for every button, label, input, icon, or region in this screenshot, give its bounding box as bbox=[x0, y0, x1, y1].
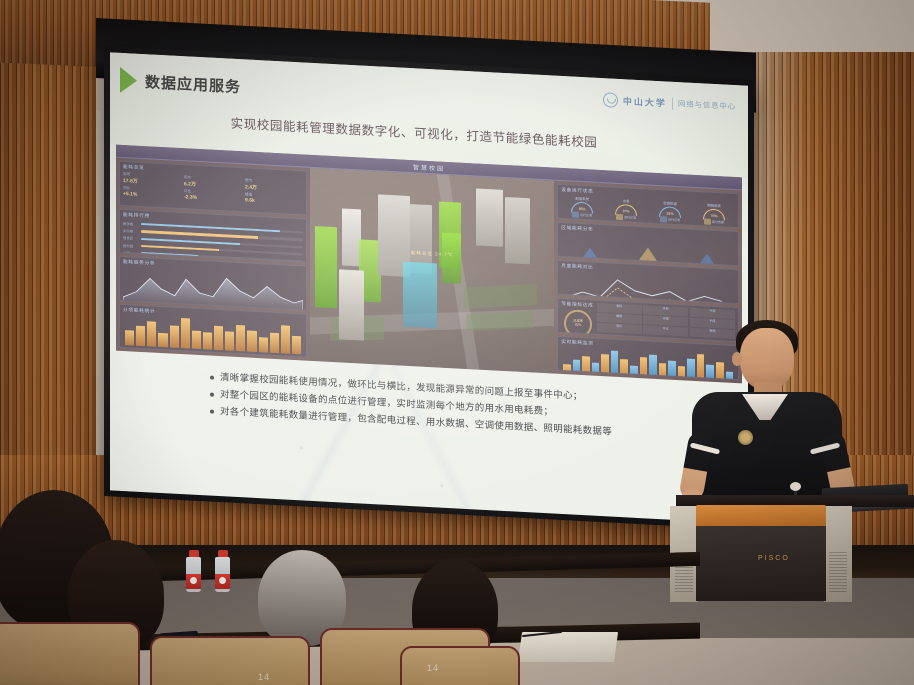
chart-bar bbox=[158, 333, 167, 347]
chart-bar bbox=[203, 333, 212, 349]
ranking-bar-label: 图书馆 bbox=[123, 243, 139, 249]
water-bottle bbox=[215, 550, 230, 592]
podium-right-pillar bbox=[824, 506, 852, 602]
microphone-icon[interactable] bbox=[790, 482, 801, 491]
gauge-status-text: 部分告警 bbox=[712, 220, 724, 225]
circular-emblem-icon bbox=[738, 430, 753, 445]
energy-dashboard-image: 智慧校园 能耗总览 用电 17.8万 bbox=[116, 145, 742, 384]
bottle-label bbox=[215, 574, 230, 589]
metric-cell: 同比 bbox=[597, 323, 642, 334]
gauge-status-text: 运行正常 bbox=[580, 213, 592, 218]
ranking-bar-label: 实验楼 bbox=[123, 228, 139, 234]
gauge-value: 87% bbox=[623, 209, 630, 213]
ranking-bar-label: 教学楼 bbox=[123, 220, 139, 226]
panel-subitem-statistics: 分项能耗统计 bbox=[119, 303, 307, 357]
chart-bar bbox=[236, 325, 245, 351]
seat-number: 14 bbox=[258, 672, 270, 682]
device-gauge: 水泵87%运行正常 bbox=[605, 197, 647, 221]
gauge-status-text: 运行正常 bbox=[668, 218, 680, 223]
slide-title: 数据应用服务 bbox=[145, 71, 241, 97]
building bbox=[339, 270, 363, 341]
funnel-segment bbox=[698, 253, 716, 266]
gauge-name: 水泵 bbox=[623, 198, 630, 203]
highlighted-building bbox=[315, 226, 337, 308]
panel-device-status: 设备运行状态 配电系统95%运行正常水泵87%运行正常空调机组91%运行正常照明… bbox=[557, 184, 739, 229]
chart-bar bbox=[247, 330, 256, 351]
dashboard-title: 智慧校园 bbox=[413, 162, 445, 173]
chart-bar bbox=[181, 318, 190, 348]
kpi-item: 峰值 9.6k bbox=[245, 192, 303, 206]
audience-desk-ledge bbox=[120, 552, 700, 582]
bullet-dot-icon bbox=[210, 392, 214, 396]
logo-divider bbox=[672, 97, 673, 109]
gauge-footer: 运行正常 bbox=[660, 216, 680, 223]
kpi-item: 用电 17.8万 bbox=[123, 172, 181, 187]
speaker-ear bbox=[732, 352, 742, 366]
gauge-footer: 运行正常 bbox=[616, 214, 636, 221]
chart-bar bbox=[125, 330, 134, 345]
chart-bar bbox=[270, 332, 279, 352]
projection-screen: 数据应用服务 实现校园能耗管理数据数字化、可视化，打造节能绿色能耗校园 中山大学… bbox=[104, 46, 754, 530]
gauge-status-chip bbox=[616, 214, 623, 220]
chart-bar bbox=[192, 330, 201, 348]
funnel-segment bbox=[637, 247, 659, 264]
kpi-item: 用水 6.2万 bbox=[184, 175, 242, 190]
panel-monthly-comparison: 月度能耗对比 bbox=[557, 260, 739, 305]
building bbox=[505, 197, 529, 264]
gauge-value: 78% bbox=[711, 214, 718, 218]
gauge-status-text: 运行正常 bbox=[624, 215, 636, 220]
green-area bbox=[466, 311, 534, 332]
metric-cell: 电耗 bbox=[597, 303, 642, 314]
chart-bar bbox=[640, 357, 648, 380]
chart-bar bbox=[170, 325, 179, 347]
auditorium-seat bbox=[400, 646, 520, 685]
ranking-bar-fill bbox=[141, 245, 219, 251]
device-gauge: 照明系统78%部分告警 bbox=[693, 202, 735, 226]
gauge-status-chip bbox=[572, 212, 579, 218]
gauge-status-chip bbox=[704, 218, 711, 224]
audience-area: 14 14 bbox=[0, 500, 700, 685]
ranking-bar-list: 教学楼实验楼宿舍区图书馆食堂 bbox=[123, 219, 303, 262]
speaker-head bbox=[740, 328, 794, 390]
water-bottle bbox=[186, 550, 201, 592]
gauge-status-chip bbox=[660, 216, 667, 222]
chart-bar bbox=[649, 355, 657, 381]
chart-bar bbox=[582, 356, 590, 379]
chart-bar bbox=[214, 326, 223, 350]
metric-cell: 峰值 bbox=[597, 313, 642, 324]
chart-bar bbox=[601, 354, 609, 379]
bullet-dot-icon bbox=[210, 409, 214, 413]
panel-energy-trend: 能耗趋势分析 bbox=[119, 256, 307, 310]
gauge-footer: 运行正常 bbox=[572, 212, 592, 219]
logo-sub-text: 网络与信息中心 bbox=[678, 98, 736, 112]
donut-chart: 达成率 92% bbox=[564, 309, 592, 338]
chart-bar bbox=[259, 337, 268, 352]
podium-brand-label: PISCO bbox=[758, 555, 790, 562]
podium-wood-desk bbox=[696, 505, 826, 527]
campus-3d-model: 能耗总览 24.7℃ bbox=[310, 168, 554, 374]
chart-bar bbox=[668, 361, 676, 380]
logo-main-text: 中山大学 bbox=[623, 94, 667, 109]
chart-bar bbox=[659, 363, 667, 380]
gauge-name: 配电系统 bbox=[575, 196, 589, 202]
chart-bar bbox=[136, 325, 145, 345]
gauge-name: 照明系统 bbox=[707, 203, 721, 209]
podium-front-panel bbox=[696, 526, 826, 601]
seat-number: 14 bbox=[427, 663, 439, 673]
documents-on-desk bbox=[518, 632, 618, 662]
conference-hall-scene: 数据应用服务 实现校园能耗管理数据数字化、可视化，打造节能绿色能耗校园 中山大学… bbox=[0, 0, 914, 685]
podium-area: PISCO bbox=[676, 300, 914, 600]
building bbox=[476, 188, 503, 247]
chart-bar bbox=[292, 336, 301, 354]
ranking-bar-label: 食堂 bbox=[123, 250, 139, 256]
green-arrow-icon bbox=[120, 67, 137, 94]
kpi-item: 燃气 2.4万 bbox=[245, 178, 303, 193]
chart-bar bbox=[281, 325, 290, 353]
presentation-slide: 数据应用服务 实现校园能耗管理数据数字化、可视化，打造节能绿色能耗校园 中山大学… bbox=[110, 52, 748, 523]
panel-energy-ranking: 能耗排行榜 教学楼实验楼宿舍区图书馆食堂 bbox=[119, 208, 307, 262]
panel-title: 节能指标达成 bbox=[561, 301, 593, 309]
green-area bbox=[464, 284, 537, 309]
auditorium-seat bbox=[150, 636, 310, 685]
sysu-seal-icon bbox=[603, 92, 618, 108]
ranking-bar-label: 宿舍区 bbox=[123, 235, 139, 241]
panel-area-distribution: 区域能耗分布 A区B区C区D区E区F区 bbox=[557, 222, 739, 267]
kpi-item: 环比 -2.3% bbox=[184, 189, 242, 203]
bottle-label bbox=[186, 574, 201, 589]
gauge-value: 95% bbox=[579, 207, 586, 211]
gauge-footer: 部分告警 bbox=[704, 218, 724, 225]
donut-value: 92% bbox=[575, 323, 581, 327]
dashboard-left-panel: 能耗总览 用电 17.8万 用水 6.2万 bbox=[116, 158, 310, 361]
selected-building-highlight bbox=[403, 261, 437, 328]
gauge-name: 空调机组 bbox=[663, 200, 677, 206]
kpi-item: 同比 +5.1% bbox=[123, 186, 181, 200]
gauge-value: 91% bbox=[667, 211, 674, 215]
axis-tick: 9月 bbox=[262, 309, 267, 310]
device-gauge: 空调机组91%运行正常 bbox=[649, 200, 691, 224]
bullet-dot-icon bbox=[210, 376, 214, 380]
area-chart bbox=[123, 267, 303, 310]
dashboard-body: 能耗总览 用电 17.8万 用水 6.2万 bbox=[116, 158, 742, 384]
auditorium-seat bbox=[0, 622, 140, 685]
device-gauge: 配电系统95%运行正常 bbox=[561, 195, 603, 219]
chart-bar bbox=[147, 322, 156, 347]
funnel-segment bbox=[581, 247, 599, 261]
chart-bar bbox=[611, 351, 619, 380]
chart-bar bbox=[225, 331, 234, 350]
panel-energy-overview: 能耗总览 用电 17.8万 用水 6.2万 bbox=[119, 161, 307, 215]
city-ground: 能耗总览 24.7℃ bbox=[310, 168, 554, 374]
chart-bar bbox=[620, 359, 628, 380]
